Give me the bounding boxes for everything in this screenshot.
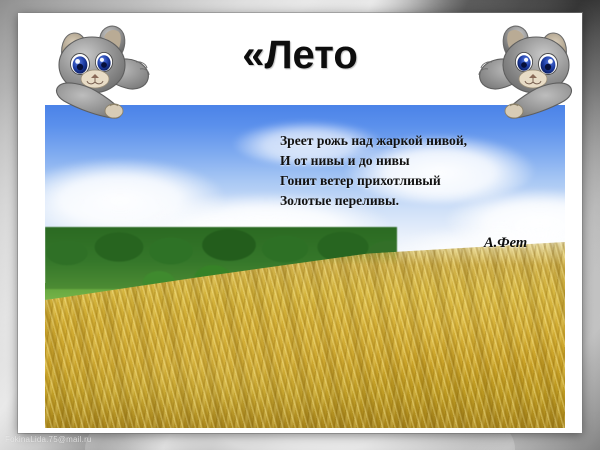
watermark: FokinaLida.75@mail.ru — [5, 435, 92, 444]
poem-line: Зреет рожь над жаркой нивой, — [280, 131, 530, 151]
kitten-right-icon — [464, 21, 582, 125]
slide-canvas[interactable]: «Лето Зреет рожь над жаркой нивой, И от … — [18, 13, 582, 433]
kitten-paw — [105, 104, 123, 118]
kitten-paw — [505, 104, 523, 118]
poem-text: Зреет рожь над жаркой нивой, И от нивы и… — [280, 131, 530, 211]
poem-line: Золотые переливы. — [280, 191, 530, 211]
poem-line: И от нивы и до нивы — [280, 151, 530, 171]
kitten-left-icon — [40, 21, 164, 125]
poem-author: А.Фет — [484, 235, 527, 252]
poem-line: Гонит ветер прихотливый — [280, 171, 530, 191]
presentation-frame: «Лето Зреет рожь над жаркой нивой, И от … — [0, 0, 600, 450]
